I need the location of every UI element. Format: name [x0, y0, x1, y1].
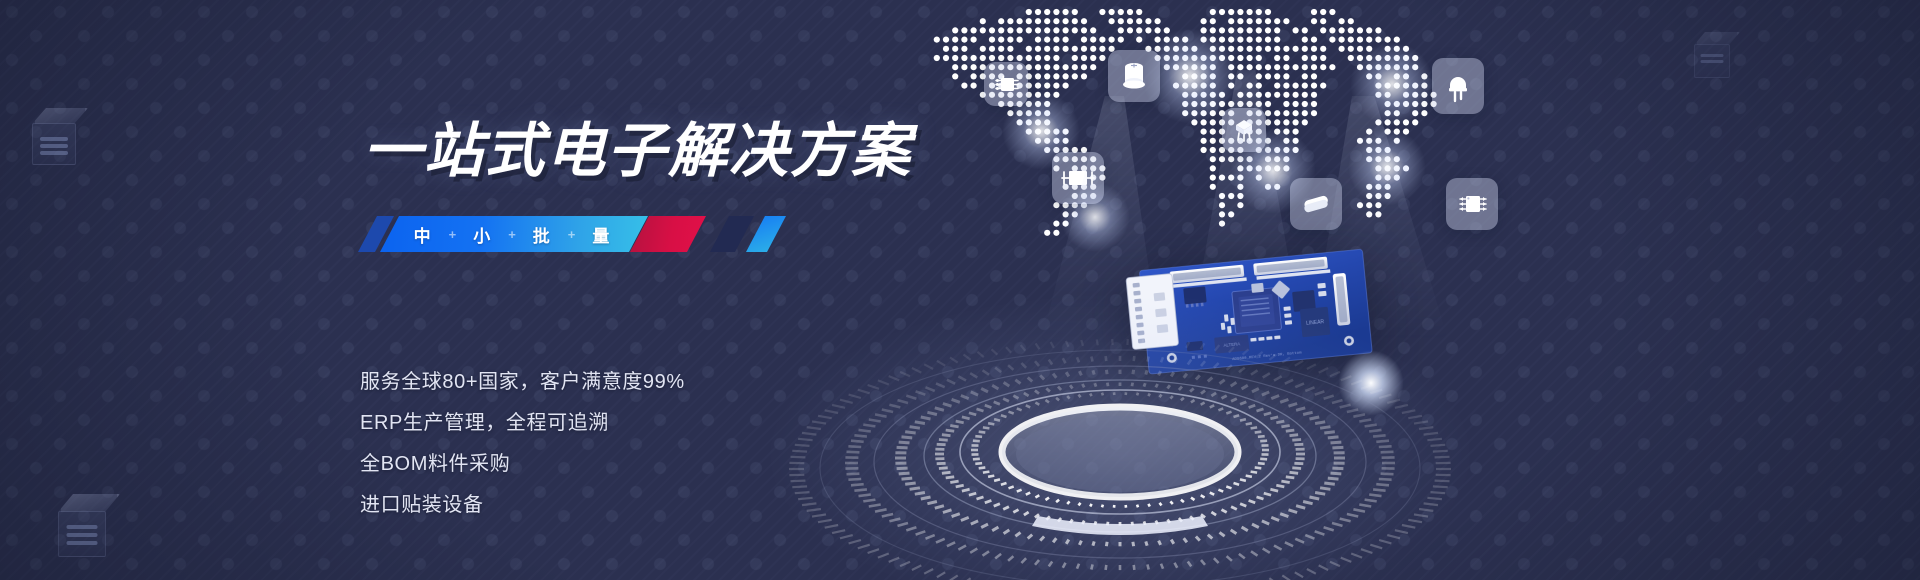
- hero-banner: LINEAR ALTERA: [0, 0, 1920, 580]
- ribbon-word-2: 小: [473, 222, 491, 247]
- soic-chip-icon: [1446, 178, 1498, 230]
- ribbon-words: 中 + 小 + 批 + 量: [414, 222, 611, 247]
- capacitor-icon: [1108, 50, 1160, 102]
- ribbon-navy-accent: [710, 216, 754, 252]
- feature-item-4: 进口贴装设备: [360, 495, 685, 515]
- crystal-glyph: [1299, 192, 1333, 216]
- led-glyph: [1443, 69, 1473, 103]
- ribbon-badge: 中 + 小 + 批 + 量: [358, 216, 788, 252]
- hud-rings-svg: [770, 330, 1470, 580]
- ribbon-word-4: 量: [592, 222, 610, 247]
- feature-item-2: ERP生产管理，全程可追溯: [360, 413, 685, 433]
- capacitor-glyph: [1119, 59, 1149, 93]
- ribbon-main-bar: 中 + 小 + 批 + 量: [380, 216, 648, 252]
- feature-item-1: 服务全球80+国家，客户满意度99%: [360, 372, 685, 392]
- resistor-glyph: [1061, 167, 1095, 189]
- transistor-icon: [1222, 108, 1266, 152]
- feature-list: 服务全球80+国家，客户满意度99% ERP生产管理，全程可追溯 全BOM料件采…: [360, 372, 685, 536]
- floating-cube-right: [1694, 32, 1740, 80]
- feature-item-3: 全BOM料件采购: [360, 454, 685, 474]
- ribbon-word-3: 批: [533, 222, 551, 247]
- hud-holographic-platform: [770, 330, 1470, 580]
- ribbon-separator-2: +: [491, 227, 533, 242]
- left-content-column: 一站式电子解决方案 中 + 小 + 批 + 量 服务全球80+国家，客户满意度9…: [0, 0, 820, 580]
- resistor-icon: [1052, 152, 1104, 204]
- ribbon-word-1: 中: [414, 222, 432, 247]
- soic-chip-glyph: [1456, 189, 1488, 219]
- led-icon: [1432, 58, 1484, 114]
- ic-chip-glyph: [992, 70, 1020, 98]
- crystal-oscillator-icon: [1290, 178, 1342, 230]
- ribbon-separator-1: +: [432, 227, 474, 242]
- world-map-svg: [930, 6, 1490, 256]
- ribbon-blue-accent: [746, 216, 786, 252]
- transistor-glyph: [1230, 116, 1258, 144]
- world-map-dotted: [930, 6, 1490, 256]
- ic-chip-icon: [984, 62, 1028, 106]
- ribbon-separator-3: +: [551, 227, 593, 242]
- page-title: 一站式电子解决方案: [363, 122, 912, 181]
